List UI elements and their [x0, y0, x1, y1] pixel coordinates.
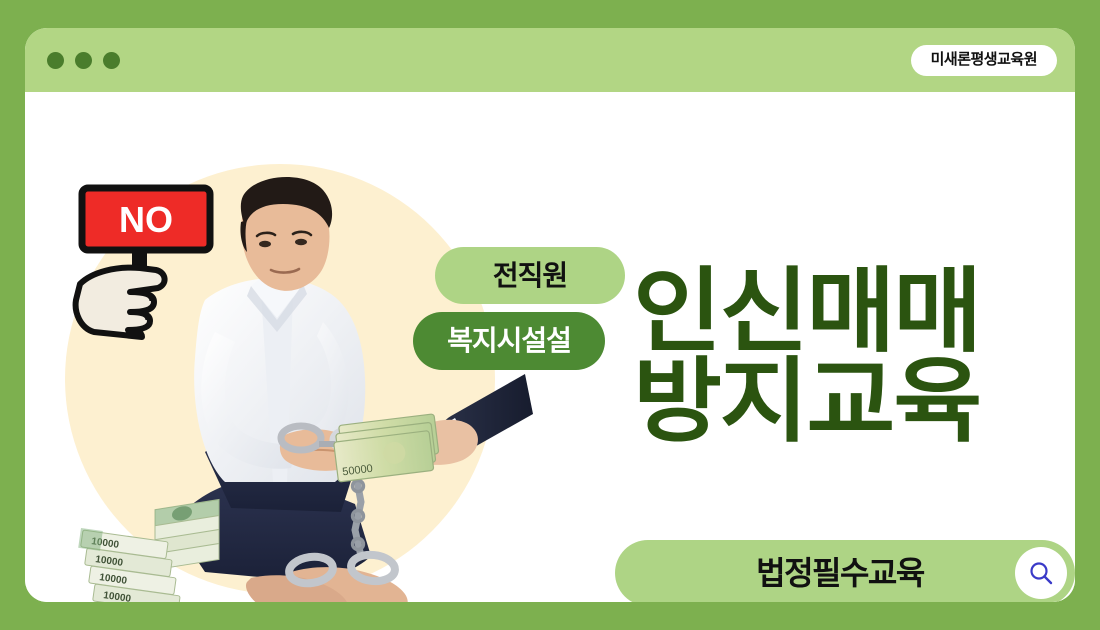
browser-card: 미새론평생교육원 [25, 28, 1075, 602]
page-title: 인신매매 방지교육 [633, 267, 1075, 447]
brand-badge[interactable]: 미새론평생교육원 [911, 45, 1057, 76]
cta-label: 법정필수교육 [756, 557, 924, 589]
headline-line-2: 방지교육 [633, 357, 1075, 447]
tag-secondary[interactable]: 복지시설설 [413, 312, 605, 370]
headline-line-1: 인신매매 [633, 261, 980, 363]
cta-bar[interactable]: 법정필수교육 [615, 540, 1075, 602]
window-dot-maximize[interactable] [103, 52, 120, 69]
window-controls[interactable] [47, 52, 120, 69]
title-bar: 미새론평생교육원 [25, 28, 1075, 92]
screenshot-root: 미새론평생교육원 [0, 0, 1100, 630]
banner-canvas: 50000 [25, 92, 1075, 602]
tag-primary[interactable]: 전직원 [435, 247, 625, 304]
window-dot-close[interactable] [47, 52, 64, 69]
search-icon[interactable] [1015, 547, 1067, 599]
window-dot-minimize[interactable] [75, 52, 92, 69]
svg-text:NO: NO [119, 199, 173, 240]
money-stacks-icon: 10000 10000 10000 10000 [77, 492, 257, 602]
no-sign-hand-icon: NO [70, 180, 240, 340]
